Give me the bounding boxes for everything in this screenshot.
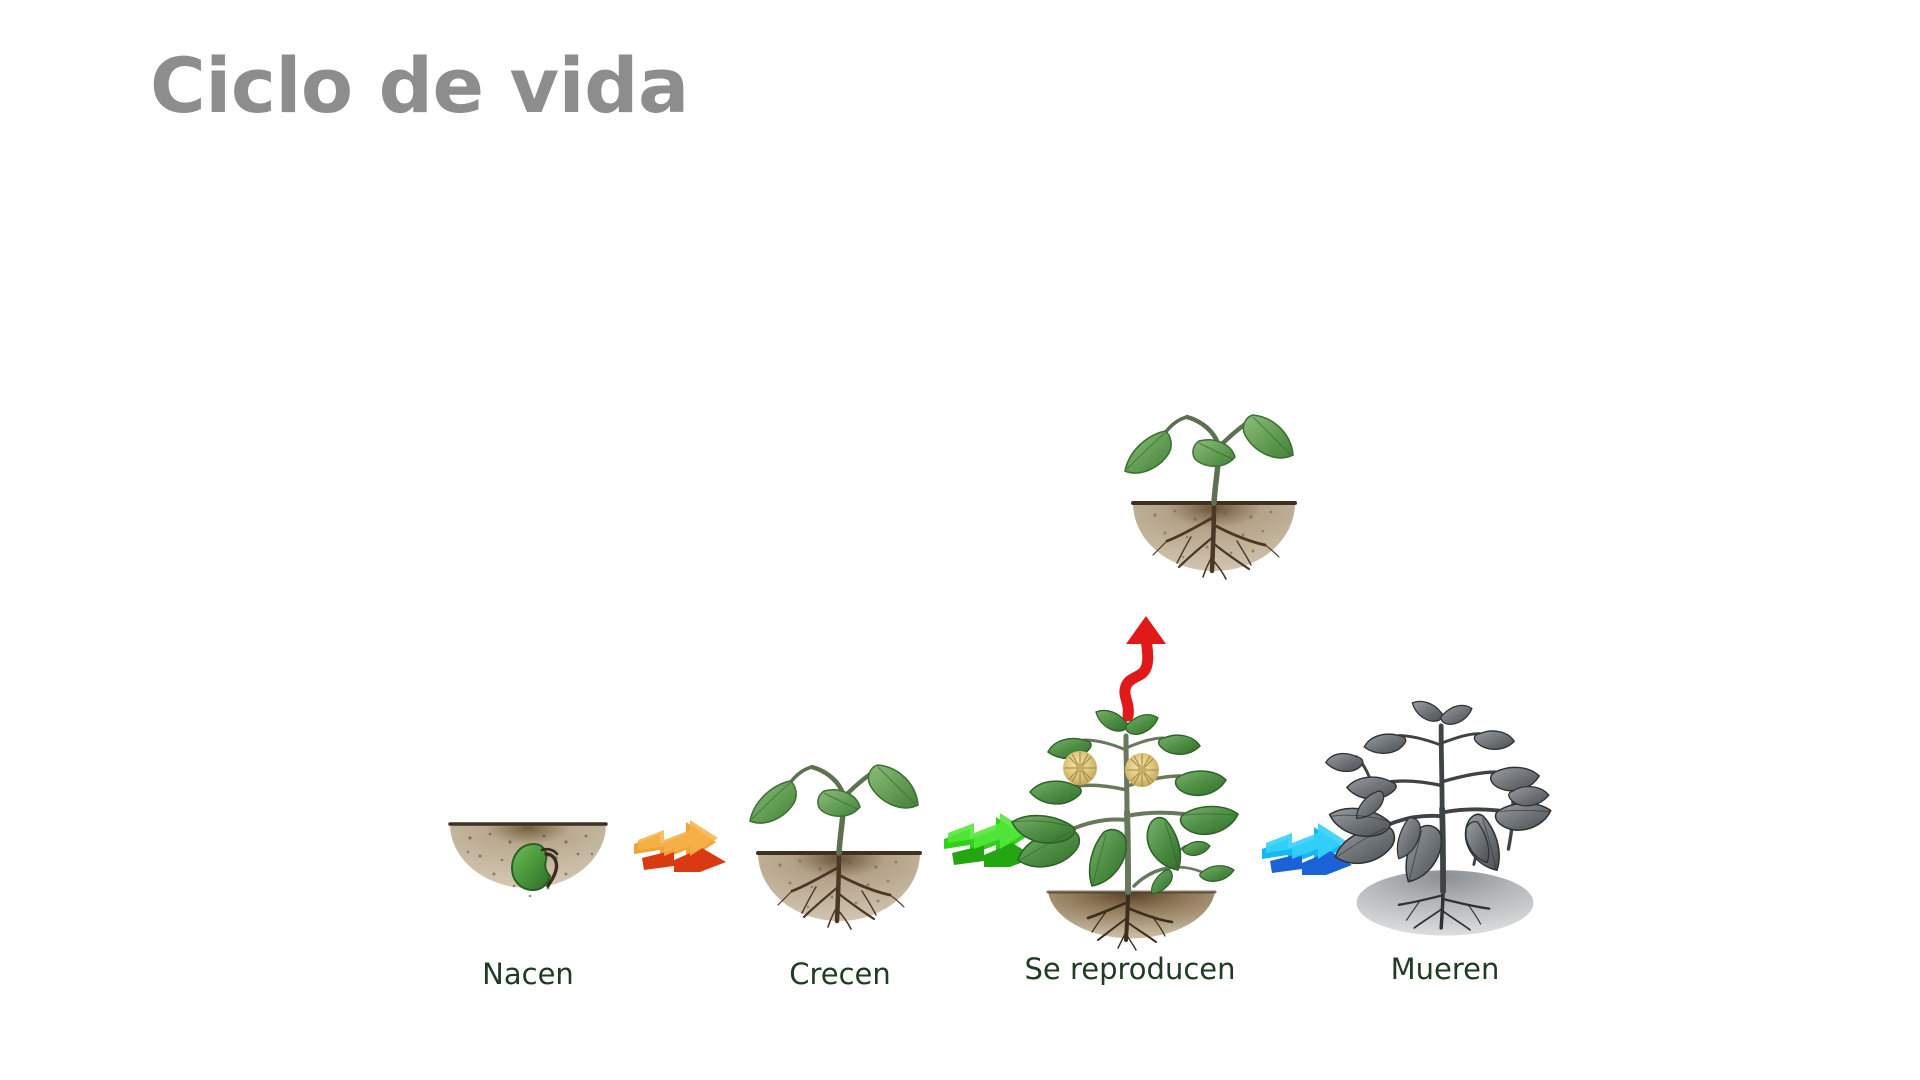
stage-label-mueren: Mueren [1320, 955, 1570, 984]
stage-cycle-restart[interactable] [1095, 385, 1335, 620]
stage-label-crecen: Crecen [720, 960, 960, 989]
stage-label-nacen: Nacen [438, 960, 618, 989]
stage-nacen[interactable]: Nacen [438, 800, 618, 1000]
flower-cluster-right [1125, 753, 1159, 787]
seedling-with-roots-icon [720, 735, 960, 970]
flowering-plant-with-roots-icon [1000, 700, 1260, 960]
stage-crecen[interactable]: Crecen [720, 735, 960, 1000]
stage-mueren[interactable]: Mueren [1320, 690, 1570, 1000]
slide-canvas: Ciclo de vida [0, 0, 1920, 1080]
stage-se-reproducen[interactable]: Se reproducen [1000, 700, 1260, 1000]
dead-plant-grayscale-icon [1320, 690, 1570, 960]
seed-in-soil-icon [438, 800, 618, 930]
life-cycle-diagram: Nacen [0, 0, 1920, 1080]
stage-label-se-reproducen: Se reproducen [1000, 955, 1260, 984]
seedling-with-roots-icon [1095, 385, 1335, 620]
flower-cluster-left [1063, 751, 1097, 785]
